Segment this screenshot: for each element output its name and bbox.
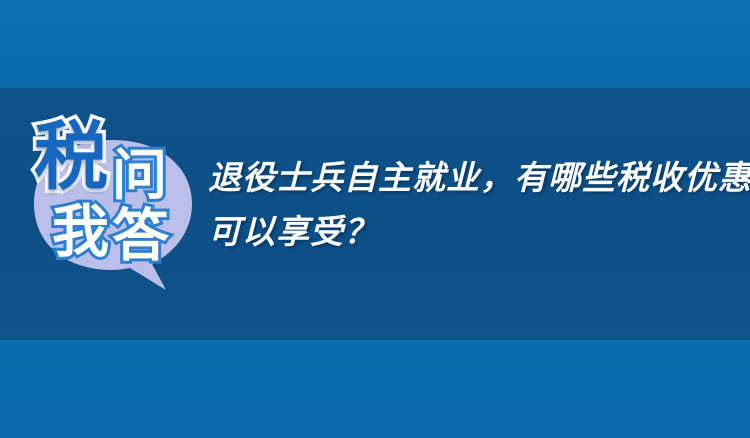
- background-band-top: [0, 0, 750, 88]
- headline-line-2: 可以享受？: [208, 206, 736, 260]
- logo-glyph-shui: 税: [34, 120, 108, 194]
- logo-glyph-wen: 问: [112, 148, 167, 203]
- brand-logo-badge: 税 问 我 答: [26, 112, 198, 290]
- logo-glyph-wo: 我: [52, 204, 109, 261]
- poster-canvas: 税 问 我 答 退役士兵自主就业，有哪些税收优惠 可以享受？: [0, 0, 750, 438]
- headline-line-1: 退役士兵自主就业，有哪些税收优惠: [208, 152, 736, 206]
- logo-glyph-da: 答: [112, 208, 169, 265]
- background-band-bottom: [0, 340, 750, 438]
- headline-block: 退役士兵自主就业，有哪些税收优惠 可以享受？: [208, 152, 736, 260]
